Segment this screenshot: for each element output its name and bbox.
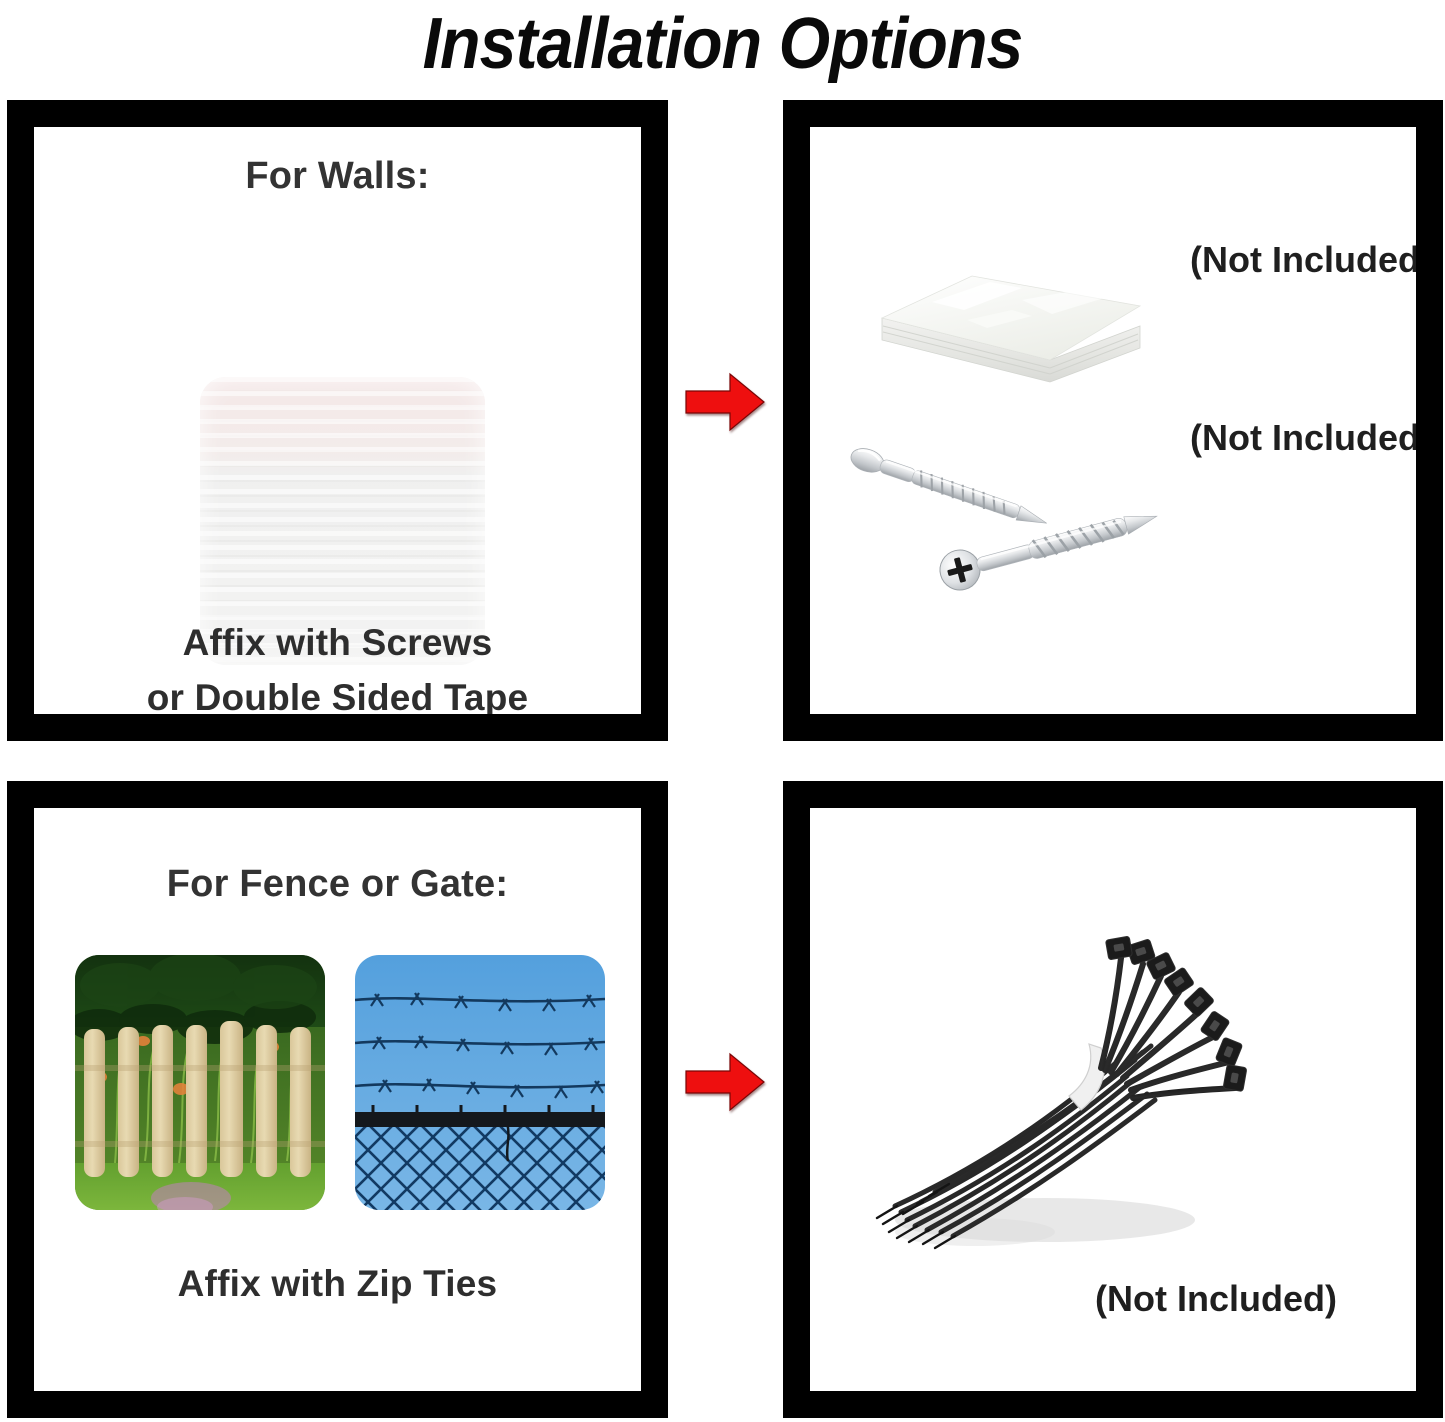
panel-wall-fixings-content: (Not Included) — [810, 127, 1416, 714]
page-title: Installation Options — [58, 2, 1387, 86]
walls-caption-line-1: Affix with Screws — [34, 622, 641, 664]
for-fence-heading: For Fence or Gate: — [34, 863, 641, 906]
barbed-wire-chain-link-fence-photo — [355, 955, 605, 1210]
tape-not-included-label: (Not Included) — [1190, 239, 1416, 281]
panel-for-walls-content: For Walls: Affix with Screws or Double S… — [34, 127, 641, 714]
zip-ties-not-included-label: (Not Included) — [1095, 1278, 1337, 1320]
walls-caption-line-2: or Double Sided Tape — [34, 677, 641, 714]
panel-for-walls: For Walls: Affix with Screws or Double S… — [7, 100, 668, 741]
black-zip-ties-bundle-photo — [855, 920, 1275, 1280]
panel-fence-fixings: (Not Included) — [783, 781, 1443, 1418]
fence-caption: Affix with Zip Ties — [34, 1263, 641, 1305]
panel-wall-fixings: (Not Included) — [783, 100, 1443, 741]
double-sided-tape-stack-photo — [872, 222, 1144, 407]
screw-photo-lower — [928, 512, 1168, 608]
screw-not-included-label: (Not Included) — [1190, 417, 1416, 459]
panel-for-fence-or-gate: For Fence or Gate: — [7, 781, 668, 1418]
panel-fence-fixings-content: (Not Included) — [810, 808, 1416, 1391]
red-right-arrow-icon — [684, 372, 766, 432]
for-walls-heading: For Walls: — [34, 155, 641, 198]
panel-for-fence-content: For Fence or Gate: — [34, 808, 641, 1391]
wooden-picket-fence-photo — [75, 955, 325, 1210]
red-right-arrow-icon-2 — [684, 1052, 766, 1112]
